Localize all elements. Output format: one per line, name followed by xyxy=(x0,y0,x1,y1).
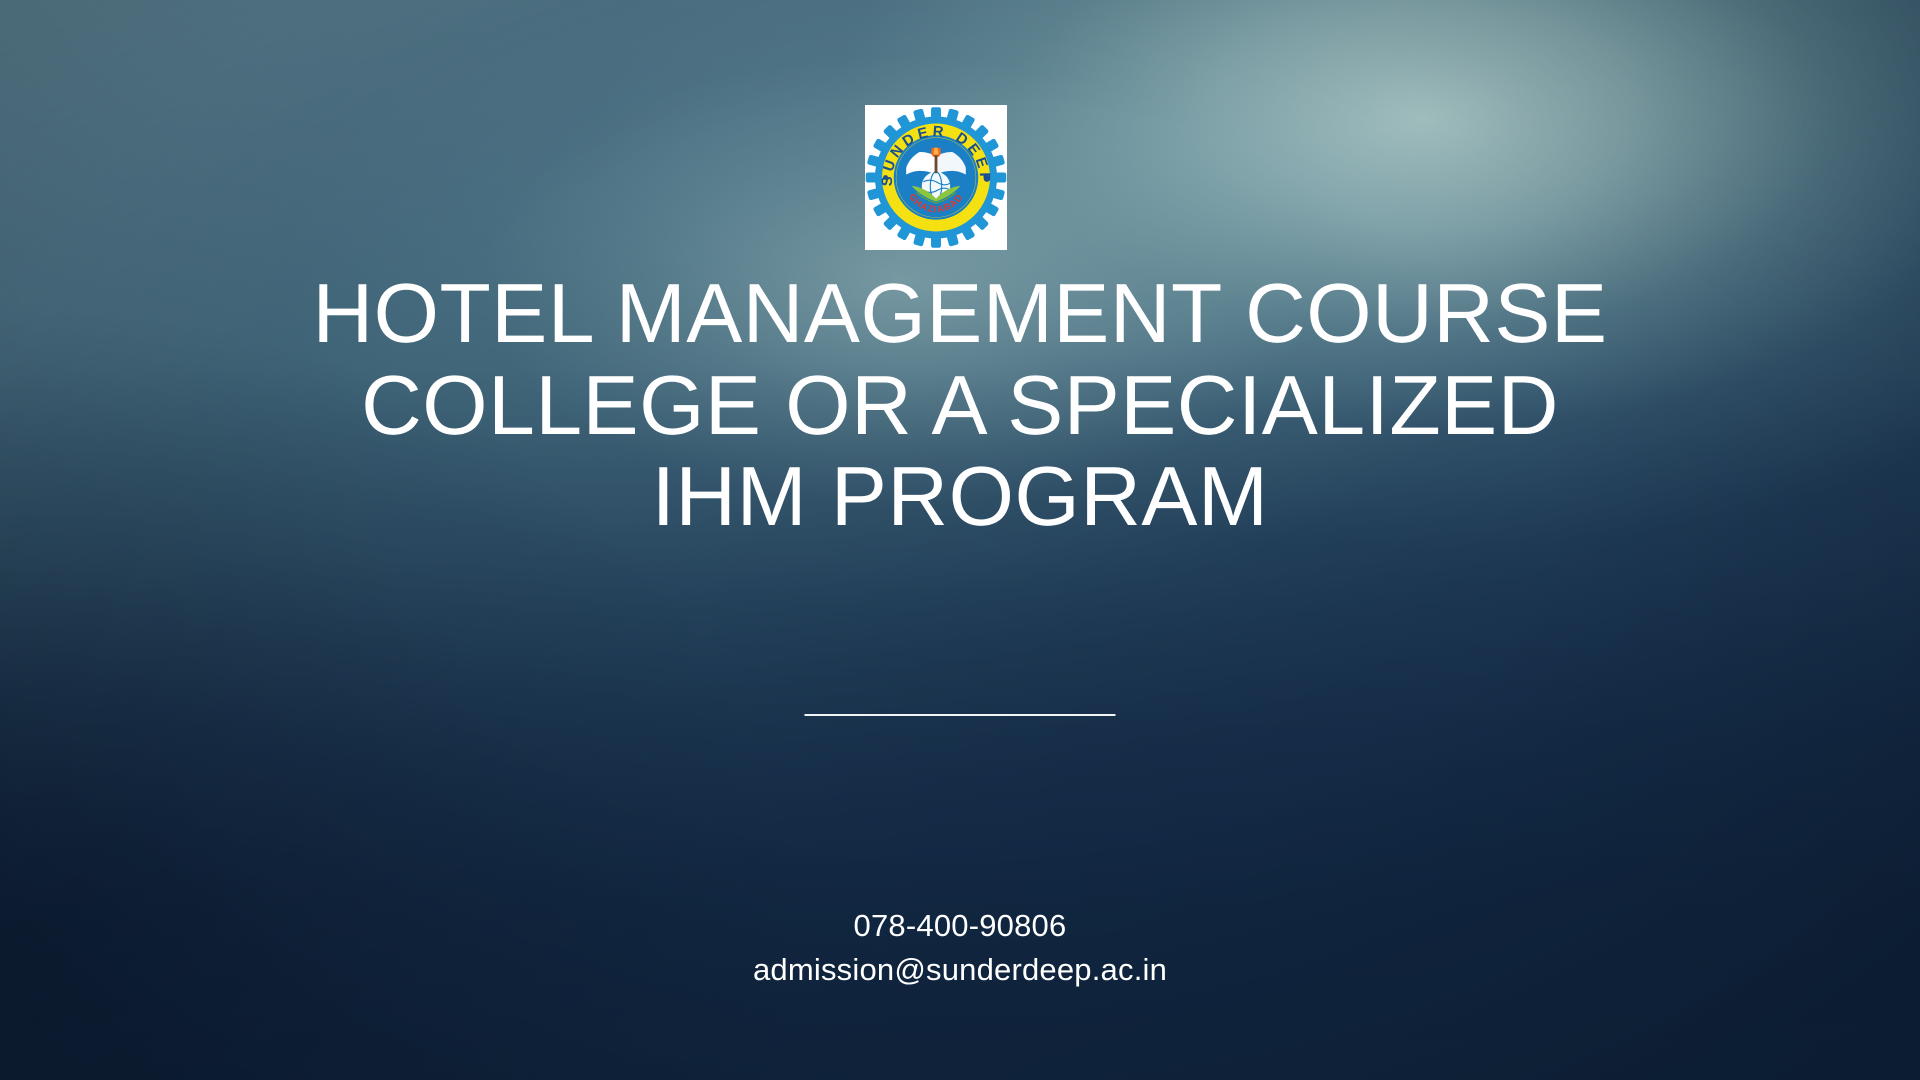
sunderdeep-logo: SUNDER DEEP GHAZIABAD xyxy=(865,105,1007,250)
slide-title-line-1: HOTEL MANAGEMENT COURSE xyxy=(60,268,1860,360)
slide-title-line-2: COLLEGE OR A SPECIALIZED xyxy=(60,360,1860,452)
presentation-slide: SUNDER DEEP GHAZIABAD HOTEL MANAGEMENT C… xyxy=(0,0,1920,1080)
contact-email: admission@sunderdeep.ac.in xyxy=(753,948,1167,992)
contact-block: 078-400-90806 admission@sunderdeep.ac.in xyxy=(753,904,1167,992)
title-divider xyxy=(805,714,1116,716)
sunderdeep-logo-icon: SUNDER DEEP GHAZIABAD xyxy=(865,105,1007,250)
slide-title-line-3: IHM PROGRAM xyxy=(60,451,1860,543)
contact-phone: 078-400-90806 xyxy=(753,904,1167,948)
slide-title: HOTEL MANAGEMENT COURSE COLLEGE OR A SPE… xyxy=(60,268,1860,543)
